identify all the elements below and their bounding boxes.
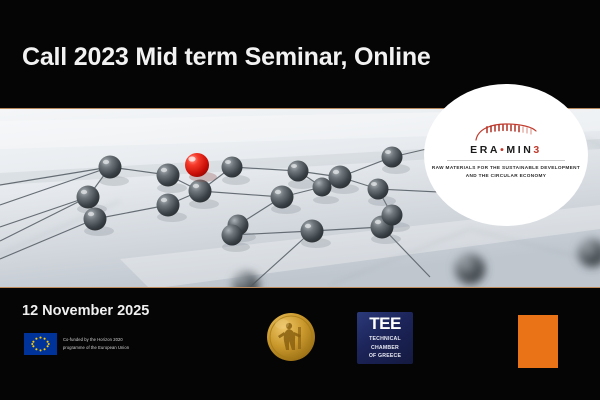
logo-tagline-line1: Raw Materials for the Sustainable Develo… [424, 164, 588, 173]
logo-word-era: ERA [470, 144, 500, 156]
eu-funding-logo: Co-funded by the Horizon 2020 programme … [24, 333, 129, 355]
eu-funding-line1: Co-funded by the Horizon 2020 [63, 336, 129, 344]
tee-logo: TEE TECHNICAL CHAMBER OF GREECE [357, 312, 413, 364]
era-min3-logo: ERA•MIN3 Raw Materials for the Sustainab… [424, 84, 588, 226]
event-date: 12 November 2025 [22, 303, 149, 319]
page-title: Call 2023 Mid term Seminar, Online [22, 43, 431, 72]
logo-word-numeral: 3 [533, 144, 541, 156]
logo-tagline-line2: and the Circular Economy [424, 172, 588, 181]
tee-subtitle-line1: TECHNICAL [369, 335, 401, 344]
tee-subtitle-line3: OF GREECE [369, 352, 401, 361]
tee-subtitle: TECHNICAL CHAMBER OF GREECE [369, 335, 401, 361]
event-banner: Call 2023 Mid term Seminar, Online [0, 0, 600, 400]
logo-divider [447, 160, 565, 161]
gold-medallion-icon [265, 311, 317, 363]
logo-word-min: MIN [506, 144, 533, 156]
orange-partner-block [518, 315, 558, 368]
european-union-flag-icon [24, 333, 57, 355]
tee-subtitle-line2: CHAMBER [369, 344, 401, 353]
tee-acronym: TEE [369, 315, 401, 332]
era-min-swoosh-icon [473, 122, 539, 142]
logo-wordmark: ERA•MIN3 [424, 145, 588, 156]
eu-funding-text: Co-funded by the Horizon 2020 programme … [63, 336, 129, 351]
eu-funding-line2: programme of the European Union [63, 344, 129, 352]
